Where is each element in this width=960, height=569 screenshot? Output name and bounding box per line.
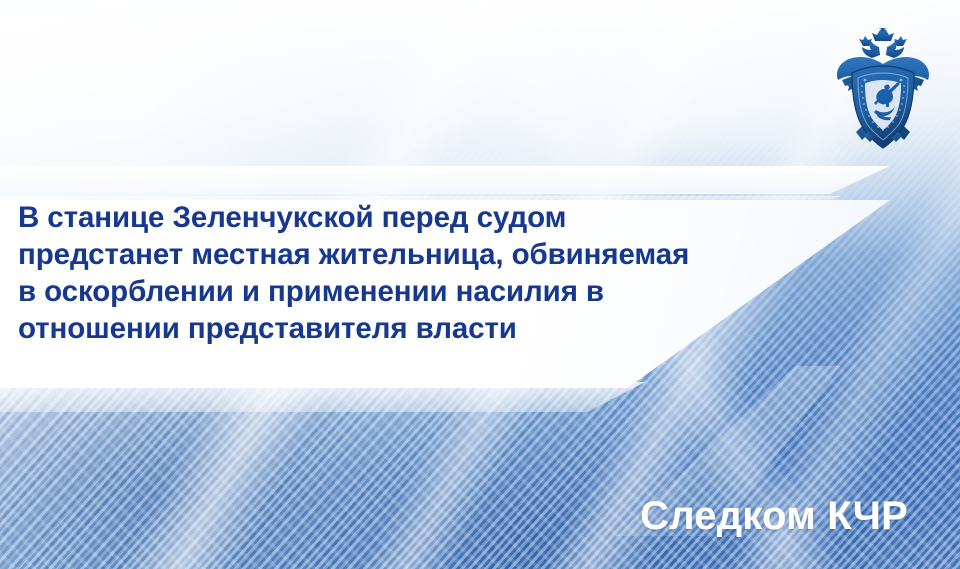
- banner-bottom-skirt: [0, 382, 890, 412]
- investigative-committee-emblem-icon: [832, 28, 934, 152]
- imperial-crowns: [859, 28, 907, 46]
- banner-top-sliver: [0, 166, 890, 194]
- poster-canvas: В станице Зеленчукской перед судом предс…: [0, 0, 960, 569]
- headline-text: В станице Зеленчукской перед судом предс…: [18, 199, 708, 347]
- wordmark-sledkom-kchr: Следком КЧР: [640, 494, 908, 539]
